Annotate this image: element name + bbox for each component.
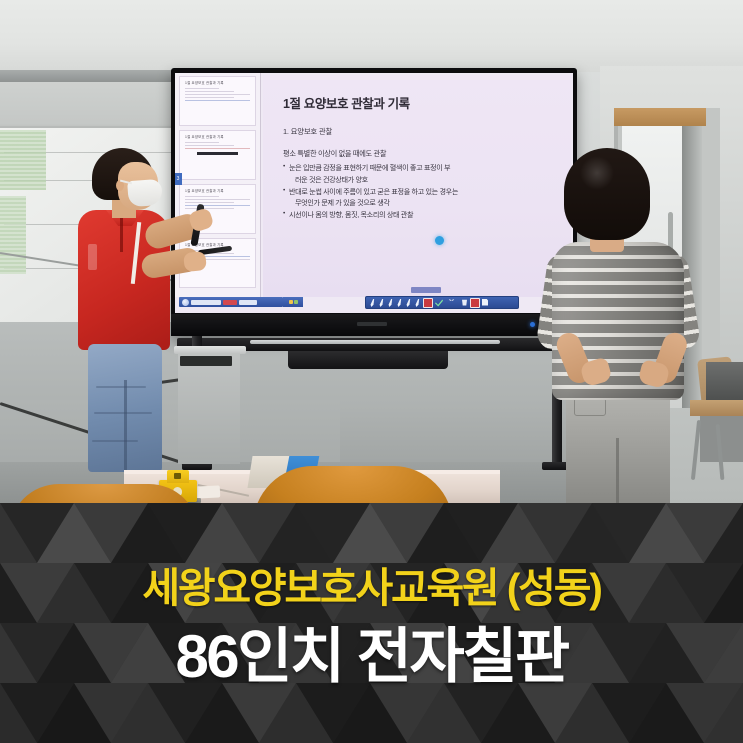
- banner-text-block: 세왕요양보호사교육원 (성동) 86인치 전자칠판: [0, 503, 743, 743]
- slide-bullet-continuation: 무엇인가 문제 가 있을 것으로 생각: [283, 198, 557, 209]
- thumbnail-title: 1절 요양보호 관찰과 기록: [185, 81, 250, 86]
- undo-icon[interactable]: [443, 299, 451, 307]
- soundbar-speaker: [288, 351, 448, 369]
- slide-thumbnail[interactable]: 1절 요양보호 관찰과 기록: [179, 76, 256, 126]
- presenter-red-polo: [72, 148, 200, 506]
- presenter-shirt-logo: [88, 244, 97, 270]
- system-tray[interactable]: [283, 297, 303, 307]
- attendee-striped-shirt: [540, 148, 710, 506]
- slide-bullet: 시선이나 몸의 방향, 몸짓, 목소리의 상태 관찰: [283, 210, 557, 221]
- select-box-icon[interactable]: [423, 298, 433, 308]
- classroom-photo: 1절 요양보호 관찰과 기록 1절 요양보호 관찰과 기록: [0, 0, 743, 506]
- exit-icon[interactable]: [481, 299, 489, 307]
- presenter-placket: [120, 218, 123, 252]
- slide-subtitle: 1. 요양보호 관찰: [283, 126, 557, 137]
- taskbar-window-item[interactable]: [239, 300, 257, 305]
- board-bezel-bottom: [171, 314, 577, 336]
- promo-banner: 세왕요양보호사교육원 (성동) 86인치 전자칠판: [0, 503, 743, 743]
- clear-icon[interactable]: [470, 298, 480, 308]
- taskbar-window-item[interactable]: [223, 300, 237, 305]
- screen-desktop[interactable]: 1절 요양보호 관찰과 기록 1절 요양보호 관찰과 기록: [175, 73, 573, 313]
- rear-equipment-box: [706, 362, 743, 402]
- screenshot-root: 1절 요양보호 관찰과 기록 1절 요양보호 관찰과 기록: [0, 0, 743, 743]
- slide-bullet-list: 눈은 입만큼 감정을 표현하기 때문에 혈색이 좋고 표정이 부 러운 것은 건…: [283, 163, 557, 221]
- banner-title-product: 86인치 전자칠판: [175, 627, 567, 687]
- marker-icon[interactable]: [414, 299, 422, 307]
- attendee-trouser-seam: [616, 438, 619, 506]
- thumbnail-title: 1절 요양보호 관찰과 기록: [185, 135, 250, 140]
- pen-thin-icon[interactable]: [369, 299, 377, 307]
- slide-bullet: 눈은 입만큼 감정을 표현하기 때문에 혈색이 좋고 표정이 부: [283, 163, 557, 174]
- attendee-pocket: [574, 398, 606, 416]
- slide-lead-text: 평소 특별한 이상이 없을 때에도 관찰: [283, 149, 557, 159]
- highlighter-icon[interactable]: [387, 299, 395, 307]
- touch-cursor-icon: [435, 236, 444, 245]
- slide-title: 1절 요양보호 관찰과 기록: [283, 93, 557, 112]
- presenter-face-mask: [127, 179, 163, 207]
- banner-title-academy: 세왕요양보호사교육원 (성동): [142, 568, 600, 609]
- board-display[interactable]: 1절 요양보호 관찰과 기록 1절 요양보호 관찰과 기록: [175, 73, 573, 313]
- document-paper: [196, 485, 221, 498]
- board-stand-rail: [250, 340, 500, 344]
- pointer-icon[interactable]: [405, 299, 413, 307]
- pen-thick-icon[interactable]: [378, 299, 386, 307]
- slide-bullet: 반대로 눈썹 사이에 주름이 있고 굳은 표정을 하고 있는 경우는: [283, 187, 557, 198]
- yellow-device-display: [174, 473, 181, 479]
- power-led-icon: [530, 322, 535, 327]
- annotation-toolbar[interactable]: [365, 296, 519, 309]
- slide-page-indicator: [411, 287, 441, 293]
- ceiling-wall: [0, 0, 743, 72]
- tray-icon[interactable]: [294, 300, 298, 304]
- shape-icon[interactable]: [396, 299, 404, 307]
- presentation-slide[interactable]: 1절 요양보호 관찰과 기록 1. 요양보호 관찰 평소 특별한 이상이 없을 …: [263, 75, 571, 297]
- tray-icon[interactable]: [289, 300, 293, 304]
- electronic-whiteboard[interactable]: 1절 요양보호 관찰과 기록 1절 요양보호 관찰과 기록: [171, 68, 577, 336]
- door-header-trim: [614, 108, 706, 126]
- attendee-hair-highlight: [580, 156, 614, 190]
- redo-icon[interactable]: [452, 299, 460, 307]
- window-blind-lower: [0, 196, 26, 274]
- check-icon[interactable]: [434, 299, 442, 307]
- window-blind-upper: [0, 130, 46, 190]
- eraser-icon[interactable]: [461, 299, 469, 307]
- presenter-leg-seam: [124, 380, 127, 470]
- slide-bullet-continuation: 러운 것은 건강상태가 양호: [283, 175, 557, 186]
- board-brand-logo: [357, 322, 387, 326]
